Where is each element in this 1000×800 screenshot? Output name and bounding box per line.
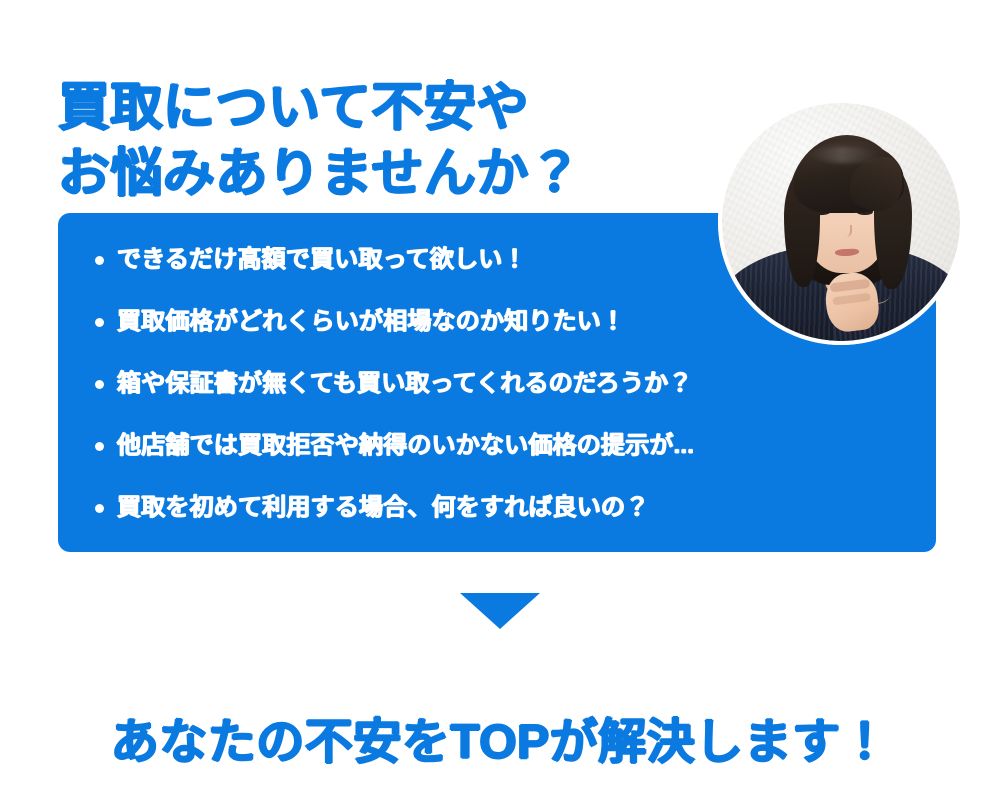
list-item: 箱や保証書が無くても買い取ってくれるのだろうか？ bbox=[95, 367, 735, 429]
list-item-label: 他店舗では買取拒否や納得のいかない価格の提示が... bbox=[117, 432, 694, 459]
bullet-dot-icon bbox=[95, 380, 104, 389]
bullet-dot-icon bbox=[95, 504, 104, 513]
list-item-label: 箱や保証書が無くても買い取ってくれるのだろうか？ bbox=[117, 370, 693, 397]
list-item: 他店舗では買取拒否や納得のいかない価格の提示が... bbox=[95, 429, 735, 491]
concerns-list: できるだけ高額で買い取って欲しい！ 買取価格がどれくらいが相場なのか知りたい！ … bbox=[95, 243, 735, 553]
list-item-label: 買取価格がどれくらいが相場なのか知りたい！ bbox=[117, 308, 625, 335]
portrait-image bbox=[722, 103, 960, 341]
list-item: 買取を初めて利用する場合、何をすれば良いの？ bbox=[95, 491, 735, 553]
photo-hair-highlight bbox=[810, 147, 880, 163]
headline-top: 買取について不安や お悩みありませんか？ bbox=[58, 75, 738, 207]
bullet-dot-icon bbox=[95, 256, 104, 265]
list-item-label: 買取を初めて利用する場合、何をすれば良いの？ bbox=[117, 494, 649, 521]
list-item: 買取価格がどれくらいが相場なのか知りたい！ bbox=[95, 305, 735, 367]
triangle-down-icon bbox=[460, 593, 540, 629]
promo-banner: 買取について不安や お悩みありませんか？ できるだけ高額で買い取って欲しい！ 買… bbox=[0, 0, 1000, 800]
bullet-dot-icon bbox=[95, 442, 104, 451]
list-item: できるだけ高額で買い取って欲しい！ bbox=[95, 243, 735, 305]
list-item-label: できるだけ高額で買い取って欲しい！ bbox=[117, 246, 527, 273]
portrait-photo bbox=[718, 99, 964, 345]
bullet-dot-icon bbox=[95, 318, 104, 327]
headline-bottom: あなたの不安をTOPが解決します！ bbox=[0, 712, 1000, 774]
